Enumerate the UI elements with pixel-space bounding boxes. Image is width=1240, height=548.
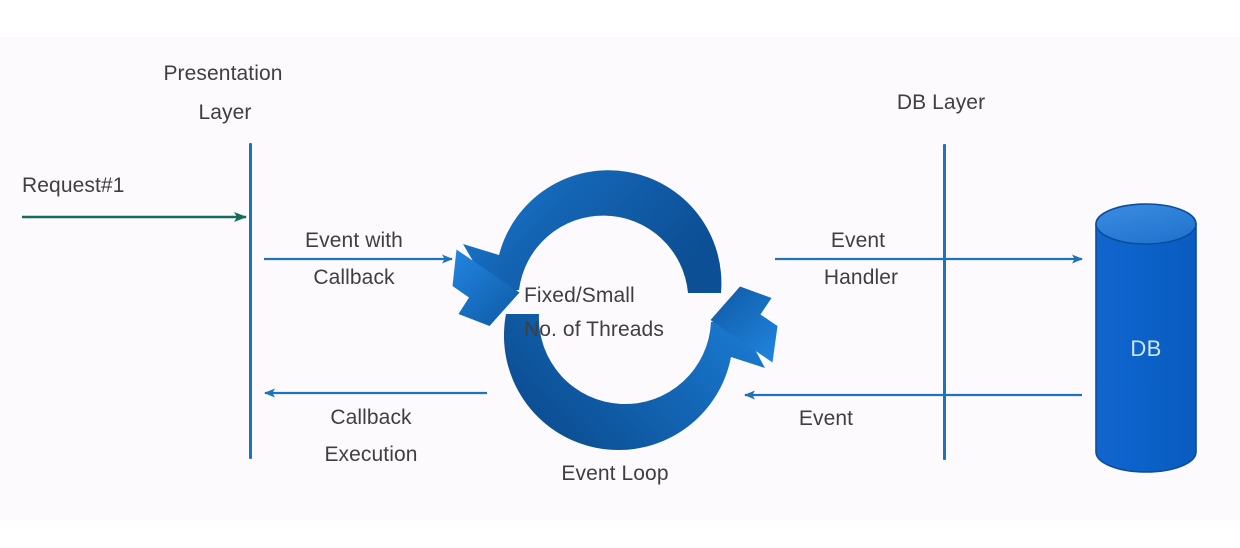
- event-loop-arc-top: [463, 170, 721, 293]
- presentation-layer-title-line1: Presentation: [163, 61, 282, 87]
- event-handler-label-line1: Event: [831, 228, 885, 254]
- db-layer-title: DB Layer: [897, 90, 985, 116]
- event-handler-label-line2: Handler: [824, 265, 898, 291]
- event-label: Event: [799, 406, 853, 432]
- presentation-layer-title-line2: Layer: [198, 100, 251, 126]
- event-loop-label: Event Loop: [561, 461, 668, 487]
- callback-execution-label-line1: Callback: [330, 405, 411, 431]
- threads-label-line2: No. of Threads: [524, 317, 664, 343]
- presentation-layer-lifeline: [249, 143, 252, 459]
- request-label: Request#1: [22, 173, 124, 199]
- db-label: DB: [1130, 336, 1161, 362]
- db-layer-lifeline: [943, 144, 946, 460]
- callback-execution-label-line2: Execution: [324, 442, 417, 468]
- threads-label-line1: Fixed/Small: [524, 283, 635, 309]
- event-with-callback-label-line2: Callback: [313, 265, 394, 291]
- diagram-canvas: Presentation Layer DB Layer Request#1 Ev…: [0, 0, 1240, 548]
- event-with-callback-label-line1: Event with: [305, 228, 403, 254]
